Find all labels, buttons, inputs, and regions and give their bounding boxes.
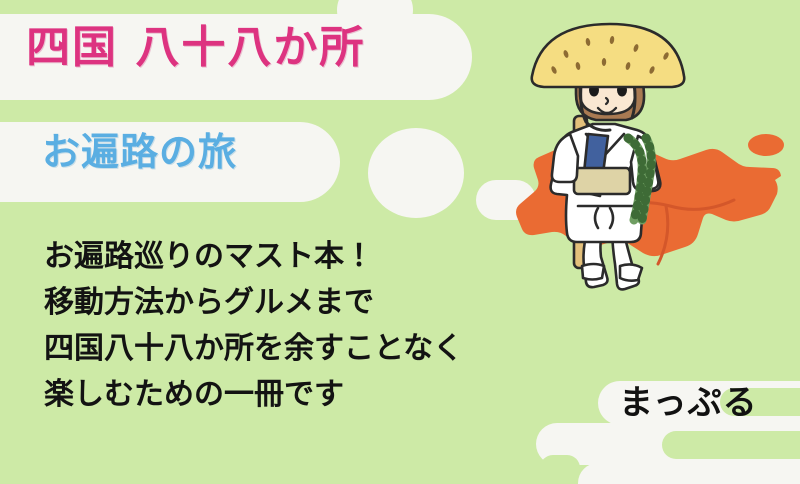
robe-collar bbox=[586, 134, 624, 156]
body-line-3: 四国八十八か所を余すことなく bbox=[44, 326, 463, 372]
shikoku-map-icon bbox=[516, 134, 784, 264]
page-subtitle: お遍路の旅 bbox=[42, 132, 237, 174]
hat-chin-strap-right bbox=[632, 72, 635, 118]
page-title: 四国 八十八か所 bbox=[26, 24, 365, 72]
staff-tassel bbox=[566, 136, 580, 151]
cloud-bar-white-4 bbox=[572, 425, 632, 459]
walking-staff-icon bbox=[566, 116, 587, 268]
shoulder-bag bbox=[574, 168, 630, 194]
prayer-beads-icon bbox=[628, 138, 651, 220]
left-arm bbox=[552, 134, 578, 182]
ohenro-pilgrim-illustration bbox=[470, 10, 800, 320]
white-robe bbox=[551, 124, 661, 242]
fringe bbox=[580, 50, 634, 74]
decorative-circle-a bbox=[368, 128, 464, 218]
hair bbox=[576, 38, 644, 120]
pilgrim-character-icon bbox=[532, 24, 685, 289]
prefecture-border-2 bbox=[658, 206, 668, 264]
face bbox=[580, 48, 635, 114]
right-gaiter bbox=[620, 264, 642, 280]
cloud-bar-white-3 bbox=[578, 463, 800, 484]
brand-logo: まっぷる bbox=[619, 386, 758, 420]
left-leg bbox=[584, 226, 608, 287]
prefecture-border-1 bbox=[610, 200, 734, 209]
bag-strap bbox=[630, 136, 646, 170]
cloud-bar-green-2 bbox=[662, 431, 800, 459]
mouth bbox=[598, 108, 616, 113]
sedge-hat-icon bbox=[532, 24, 685, 87]
hat-speckles bbox=[550, 36, 670, 75]
left-gaiter bbox=[582, 264, 604, 280]
right-eye bbox=[617, 84, 627, 97]
decorative-circle-b bbox=[476, 180, 536, 220]
right-leg bbox=[612, 226, 639, 289]
obi-knot bbox=[595, 208, 613, 228]
right-arm bbox=[631, 136, 658, 190]
promo-banner: 四国 八十八か所 お遍路の旅 お遍路巡りのマスト本！ 移動方法からグルメまで 四… bbox=[0, 0, 800, 484]
cloud-bar-white-2 bbox=[536, 423, 800, 465]
body-line-4: 楽しむための一冊です bbox=[44, 372, 463, 418]
staff-shaft bbox=[574, 116, 587, 268]
cloud-bar-green-3 bbox=[540, 455, 580, 481]
blue-sash bbox=[582, 134, 608, 196]
hat-chin-strap bbox=[581, 76, 610, 130]
body-copy: お遍路巡りのマスト本！ 移動方法からグルメまで 四国八十八か所を余すことなく 楽… bbox=[44, 234, 463, 418]
body-line-2: 移動方法からグルメまで bbox=[44, 280, 463, 326]
body-line-1: お遍路巡りのマスト本！ bbox=[44, 234, 463, 280]
left-eye bbox=[589, 84, 599, 97]
offshore-island bbox=[748, 134, 784, 156]
nose bbox=[606, 98, 608, 104]
shikoku-landmass bbox=[516, 146, 781, 256]
